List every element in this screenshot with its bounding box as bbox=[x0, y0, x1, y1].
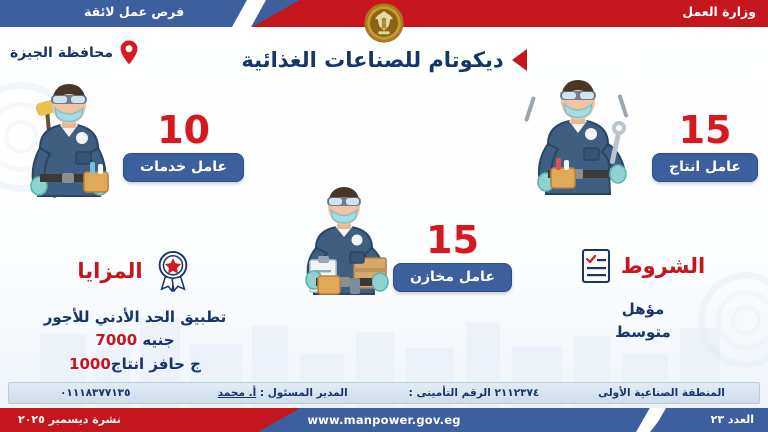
header-left-banner-label: فرص عمل لائقة bbox=[84, 4, 184, 19]
benefit-line-minimum-wage: تطبيق الحد الأدني للأجور bbox=[30, 306, 240, 329]
title-arrow-marker bbox=[512, 49, 527, 71]
insurance-number-cell: ٢١١٢٣٧٤ الرقم التأمينى : bbox=[384, 387, 564, 399]
contact-phone-number[interactable]: ٠١١١٨٣٧٧١٣٥ bbox=[9, 387, 182, 399]
industrial-area-label: المنطقة الصناعية الأولى bbox=[564, 387, 759, 399]
footer-bar: نشرة ديسمبر ٢٠٢٥ www.manpower.gov.eg الع… bbox=[0, 408, 768, 432]
benefit-line-incentive: ج حافز انتاج1000 bbox=[30, 353, 240, 376]
award-ribbon-icon bbox=[153, 250, 193, 292]
production-worker-illustration bbox=[518, 72, 638, 208]
governorate-tag: محافظة الجيزة bbox=[10, 40, 138, 65]
insurance-number-value: ٢١١٢٣٧٤ bbox=[494, 387, 539, 399]
insurance-number-label: الرقم التأمينى : bbox=[409, 387, 491, 399]
manager-cell: المدير المسئول : أ. محمد bbox=[182, 387, 385, 399]
footer-bulletin-label: نشرة ديسمبر ٢٠٢٥ bbox=[18, 413, 121, 426]
location-pin-icon bbox=[120, 40, 138, 65]
egypt-eagle-emblem bbox=[363, 2, 405, 44]
job-count-warehouse: 15 bbox=[393, 222, 512, 258]
benefit-incentive-amount: 1000 bbox=[69, 355, 111, 373]
benefit-salary-unit: جنيه bbox=[142, 331, 174, 349]
benefits-section: المزايا تطبيق الحد الأدني للأجور جنيه 70… bbox=[30, 250, 240, 376]
job-vacancy-poster: فرص عمل لائقة وزارة العمل ديكوتام للصناع… bbox=[0, 0, 768, 432]
benefits-title: المزايا bbox=[77, 259, 142, 283]
manager-name: أ. محمد bbox=[218, 387, 256, 399]
warehouse-worker-illustration bbox=[288, 186, 400, 298]
checklist-clipboard-icon bbox=[581, 248, 611, 284]
benefits-heading-row: المزايا bbox=[30, 250, 240, 292]
benefits-body: تطبيق الحد الأدني للأجور جنيه 7000 ج حاف… bbox=[30, 306, 240, 376]
job-card-warehouse: 15 عامل مخازن bbox=[393, 222, 512, 292]
conditions-title: الشروط bbox=[621, 254, 705, 278]
benefit-salary-amount: 7000 bbox=[95, 331, 137, 349]
conditions-heading-row: الشروط bbox=[558, 248, 728, 284]
manager-label: المدير المسئول : bbox=[260, 387, 348, 399]
governorate-label: محافظة الجيزة bbox=[10, 45, 113, 61]
job-label-warehouse: عامل مخازن bbox=[393, 263, 512, 292]
company-name: ديكوتام للصناعات الغذائية bbox=[241, 48, 503, 72]
job-count-services: 10 bbox=[123, 112, 244, 148]
benefit-line-salary: جنيه 7000 bbox=[30, 329, 240, 352]
condition-line-2: متوسط bbox=[558, 321, 728, 344]
footer-website-link[interactable]: www.manpower.gov.eg bbox=[307, 413, 460, 427]
job-label-services: عامل خدمات bbox=[123, 153, 244, 182]
conditions-section: الشروط مؤهل متوسط bbox=[558, 248, 728, 345]
job-label-production: عامل انتاج bbox=[652, 153, 758, 182]
job-count-production: 15 bbox=[652, 112, 758, 148]
cleaning-worker-illustration bbox=[10, 78, 128, 208]
condition-line-1: مؤهل bbox=[558, 298, 728, 321]
job-card-production: 15 عامل انتاج bbox=[652, 112, 758, 182]
benefit-incentive-text: ج حافز انتاج bbox=[111, 355, 201, 373]
footer-issue-label: العدد ٢٣ bbox=[711, 413, 754, 426]
header-right-banner-label: وزارة العمل bbox=[682, 4, 756, 19]
contact-info-bar: المنطقة الصناعية الأولى ٢١١٢٣٧٤ الرقم ال… bbox=[8, 382, 760, 404]
conditions-body: مؤهل متوسط bbox=[558, 298, 728, 345]
job-card-services: 10 عامل خدمات bbox=[123, 112, 244, 182]
